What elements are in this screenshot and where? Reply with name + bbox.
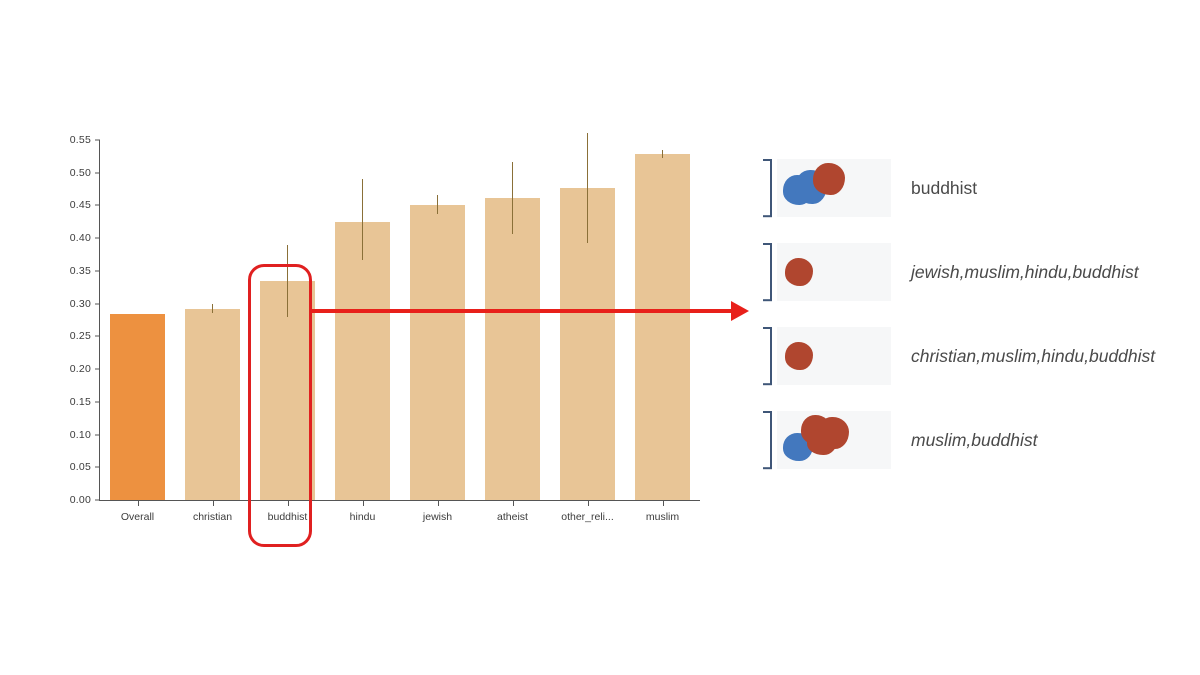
y-tick-label: 0.20 <box>70 363 91 375</box>
result-row[interactable]: muslim,buddhist <box>760 410 1037 470</box>
bracket-icon <box>760 159 774 217</box>
blob-red-icon <box>785 258 813 286</box>
x-tick-label-atheist: atheist <box>497 511 528 523</box>
result-row[interactable]: jewish,muslim,hindu,buddhist <box>760 242 1139 302</box>
y-tick-mark <box>95 270 100 271</box>
blob-red-icon <box>807 429 837 455</box>
x-tick-mark <box>363 500 364 506</box>
x-tick-label-muslim: muslim <box>646 511 679 523</box>
x-tick-mark <box>513 500 514 506</box>
callout-arrow-head <box>731 301 749 321</box>
plot-area: 0.000.050.100.150.200.250.300.350.400.45… <box>100 140 700 500</box>
bar-atheist[interactable] <box>485 198 540 500</box>
y-tick-label: 0.55 <box>70 134 91 146</box>
y-tick-label: 0.45 <box>70 199 91 211</box>
y-tick-label: 0.15 <box>70 396 91 408</box>
x-tick-label-christian: christian <box>193 511 232 523</box>
bar-chart-panel: 0.000.050.100.150.200.250.300.350.400.45… <box>0 0 760 675</box>
bracket-icon <box>760 327 774 385</box>
y-tick-mark <box>95 369 100 370</box>
y-tick-mark <box>95 434 100 435</box>
error-bar-christian <box>212 304 213 313</box>
error-bar-muslim <box>662 150 663 158</box>
thumbnail-one-red-blob[interactable] <box>777 243 891 301</box>
y-tick-label: 0.10 <box>70 429 91 441</box>
thumbnail-one-red-blob[interactable] <box>777 327 891 385</box>
bar-christian[interactable] <box>185 309 240 500</box>
y-tick-mark <box>95 303 100 304</box>
result-row-label: christian,muslim,hindu,buddhist <box>911 346 1155 367</box>
error-bar-hindu <box>362 179 363 260</box>
y-tick-mark <box>95 467 100 468</box>
x-tick-mark <box>438 500 439 506</box>
result-row-label: jewish,muslim,hindu,buddhist <box>911 262 1139 283</box>
bracket-icon <box>760 411 774 469</box>
blob-red-icon <box>785 342 813 370</box>
thumbnail-one-blue-three-red-blobs[interactable] <box>777 411 891 469</box>
x-tick-label-jewish: jewish <box>423 511 452 523</box>
thumbnail-two-blue-one-red-blobs[interactable] <box>777 159 891 217</box>
y-tick-label: 0.40 <box>70 232 91 244</box>
x-axis-line <box>99 500 700 501</box>
y-tick-mark <box>95 500 100 501</box>
y-tick-label: 0.05 <box>70 461 91 473</box>
bracket-icon <box>760 243 774 301</box>
y-tick-mark <box>95 238 100 239</box>
bar-jewish[interactable] <box>410 205 465 500</box>
error-bar-atheist <box>512 162 513 235</box>
y-tick-label: 0.30 <box>70 298 91 310</box>
y-tick-mark <box>95 336 100 337</box>
x-tick-label-hindu: hindu <box>350 511 376 523</box>
x-tick-mark <box>588 500 589 506</box>
bar-muslim[interactable] <box>635 154 690 500</box>
result-row[interactable]: buddhist <box>760 158 977 218</box>
x-tick-label-other-reli-: other_reli... <box>561 511 614 523</box>
y-tick-mark <box>95 140 100 141</box>
y-tick-mark <box>95 172 100 173</box>
y-tick-label: 0.25 <box>70 330 91 342</box>
blob-red-icon <box>813 163 845 195</box>
highlight-box-buddhist <box>248 264 312 547</box>
bar-hindu[interactable] <box>335 222 390 500</box>
x-tick-label-overall: Overall <box>121 511 154 523</box>
result-row-label: buddhist <box>911 178 977 199</box>
y-tick-mark <box>95 205 100 206</box>
x-tick-mark <box>663 500 664 506</box>
result-row-label: muslim,buddhist <box>911 430 1037 451</box>
results-panel: buddhistjewish,muslim,hindu,buddhistchri… <box>760 0 1200 675</box>
bar-overall[interactable] <box>110 314 165 500</box>
callout-arrow-shaft <box>311 309 736 313</box>
y-axis-line <box>99 140 100 500</box>
y-tick-label: 0.35 <box>70 265 91 277</box>
error-bar-jewish <box>437 195 438 214</box>
y-tick-mark <box>95 401 100 402</box>
x-tick-mark <box>213 500 214 506</box>
error-bar-other-reli- <box>587 133 588 243</box>
y-tick-label: 0.00 <box>70 494 91 506</box>
y-tick-label: 0.50 <box>70 167 91 179</box>
result-row[interactable]: christian,muslim,hindu,buddhist <box>760 326 1155 386</box>
x-tick-mark <box>138 500 139 506</box>
